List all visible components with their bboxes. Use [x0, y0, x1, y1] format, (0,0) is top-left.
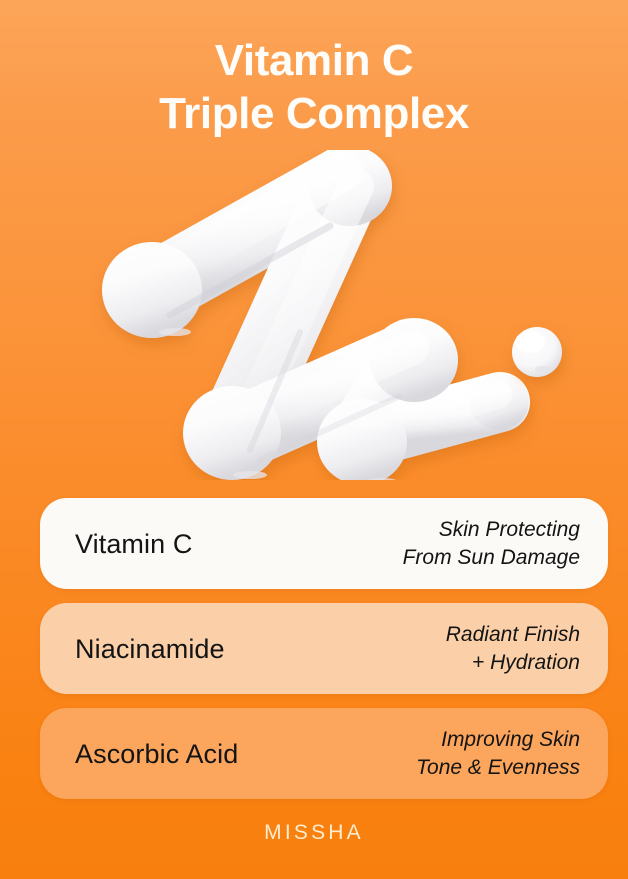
ingredient-row-ascorbic-acid[interactable]: Ascorbic Acid Improving Skin Tone & Even…	[40, 708, 608, 799]
title-line-2: Triple Complex	[0, 87, 628, 140]
ingredient-row-vitamin-c[interactable]: Vitamin C Skin Protecting From Sun Damag…	[40, 498, 608, 589]
product-poster: Vitamin C Triple Complex	[0, 0, 628, 879]
ingredient-benefit: Radiant Finish + Hydration	[446, 621, 580, 677]
benefit-line-2: + Hydration	[446, 649, 580, 677]
cream-zigzag-blob	[0, 150, 628, 480]
ingredient-row-niacinamide[interactable]: Niacinamide Radiant Finish + Hydration	[40, 603, 608, 694]
ingredient-benefit: Improving Skin Tone & Evenness	[416, 726, 580, 782]
ingredient-list: Vitamin C Skin Protecting From Sun Damag…	[40, 498, 608, 799]
page-title: Vitamin C Triple Complex	[0, 34, 628, 140]
ingredient-name: Vitamin C	[75, 528, 192, 560]
title-line-1: Vitamin C	[0, 34, 628, 87]
benefit-line-2: From Sun Damage	[403, 544, 580, 572]
benefit-line-1: Skin Protecting	[403, 516, 580, 544]
benefit-line-2: Tone & Evenness	[416, 754, 580, 782]
benefit-line-1: Improving Skin	[416, 726, 580, 754]
ingredient-name: Ascorbic Acid	[75, 738, 238, 770]
brand-label: MISSHA	[264, 820, 364, 846]
ingredient-benefit: Skin Protecting From Sun Damage	[403, 516, 580, 572]
ingredient-name: Niacinamide	[75, 633, 225, 665]
cream-droplet	[512, 327, 562, 377]
benefit-line-1: Radiant Finish	[446, 621, 580, 649]
brand-wordmark: MISSHA	[0, 820, 628, 846]
